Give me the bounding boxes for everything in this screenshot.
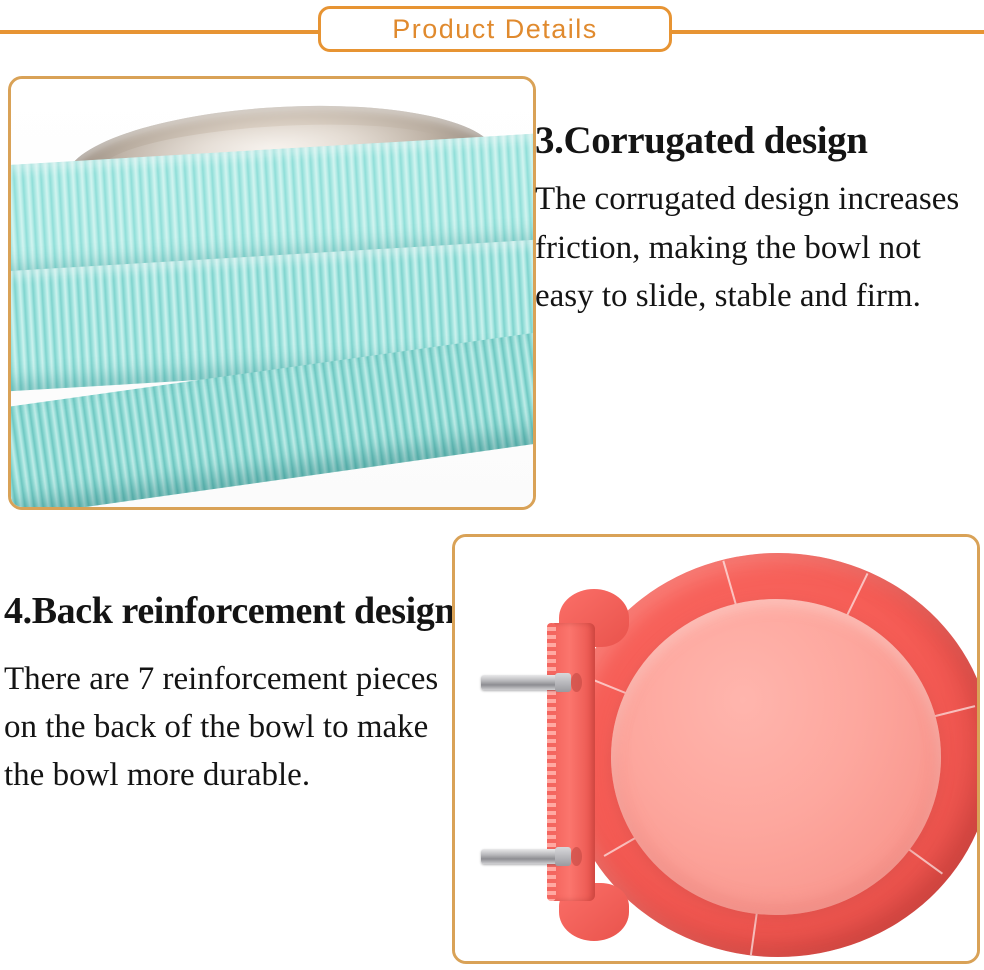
header-rule-left: [0, 30, 325, 34]
header-banner: Product Details: [0, 0, 984, 62]
metal-screw-bolt-top: [481, 675, 563, 690]
pink-bowl-back-photo: [452, 534, 980, 964]
screw-hole-top: [571, 673, 582, 692]
section-4-text-block: 4.Back reinforcement design There are 7 …: [4, 592, 456, 800]
teal-corrugated-bowl-photo: [8, 76, 536, 510]
screw-hole-bottom: [571, 847, 582, 866]
header-rule-right: [658, 30, 984, 34]
header-title-box: Product Details: [318, 6, 672, 52]
section-4-heading: 4.Back reinforcement design: [4, 592, 456, 630]
page-title: Product Details: [392, 14, 598, 45]
section-3-heading: 3.Corrugated design: [535, 120, 981, 161]
metal-screw-bolt-bottom: [481, 849, 563, 864]
bowl-back-disc: [611, 599, 941, 915]
pink-photo-scene: [455, 537, 977, 961]
section-3-text-block: 3.Corrugated design The corrugated desig…: [535, 120, 981, 321]
section-4-body: There are 7 reinforcement pieces on the …: [4, 656, 456, 800]
teal-photo-scene: [11, 79, 533, 507]
section-3-body: The corrugated design increases friction…: [535, 175, 981, 321]
